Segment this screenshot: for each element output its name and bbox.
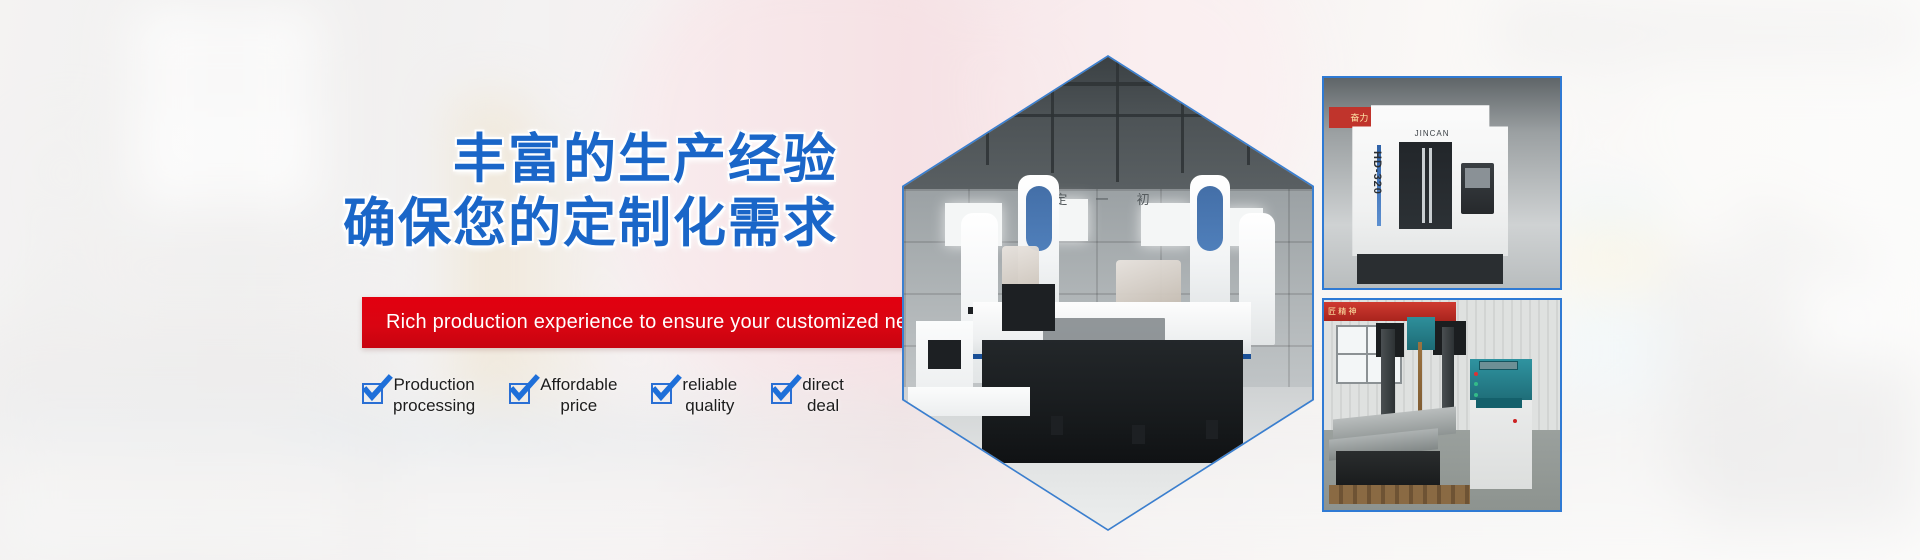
checkbox-checked-icon[interactable] [362, 383, 383, 404]
feature-label-line-2: processing [393, 396, 475, 415]
checkbox-checked-icon[interactable] [771, 383, 792, 404]
hero-banner: 丰富的生产经验 确保您的定制化需求 Rich production experi… [0, 0, 1920, 560]
hexagon-photo: 定 一 初 [904, 57, 1312, 529]
banner-headline: 丰富的生产经验 确保您的定制化需求 [0, 128, 860, 254]
feature-label-line-2: quality [685, 396, 734, 415]
headline-line-1: 丰富的生产经验 [0, 128, 838, 190]
machine-model-label: HD-320 [1371, 151, 1383, 195]
feature-label-line-2: deal [807, 396, 839, 415]
feature-label-line-1: reliable [682, 375, 737, 394]
feature-item-production-processing[interactable]: Production processing [362, 374, 475, 416]
feature-label-line-1: direct [802, 375, 844, 394]
feature-item-affordable-price[interactable]: Affordable price [509, 374, 617, 416]
subtitle-text: Rich production experience to ensure you… [362, 311, 940, 334]
feature-item-reliable-quality[interactable]: reliable quality [651, 374, 737, 416]
side-image-hd320[interactable]: 奋力 HD-320 JINCAN [1322, 76, 1562, 290]
feature-label-line-1: Production [393, 375, 474, 394]
feature-label: reliable quality [682, 374, 737, 416]
headline-line-2: 确保您的定制化需求 [0, 192, 838, 254]
feature-label: Affordable price [540, 374, 617, 416]
machine-brand-label: JINCAN [1415, 129, 1450, 138]
side-image-edm-machine[interactable]: 匠 精 神 [1322, 298, 1562, 512]
hero-hexagon-image[interactable]: 定 一 初 [902, 55, 1314, 531]
feature-list: Production processing Affordable price [362, 374, 844, 416]
feature-label: direct deal [802, 374, 844, 416]
feature-label: Production processing [393, 374, 475, 416]
feature-label-line-1: Affordable [540, 375, 617, 394]
subtitle-banner: Rich production experience to ensure you… [362, 297, 905, 348]
feature-label-line-2: price [560, 396, 597, 415]
checkbox-checked-icon[interactable] [509, 383, 530, 404]
feature-item-direct-deal[interactable]: direct deal [771, 374, 844, 416]
wall-banner-text: 匠 精 神 [1324, 302, 1456, 321]
checkbox-checked-icon[interactable] [651, 383, 672, 404]
